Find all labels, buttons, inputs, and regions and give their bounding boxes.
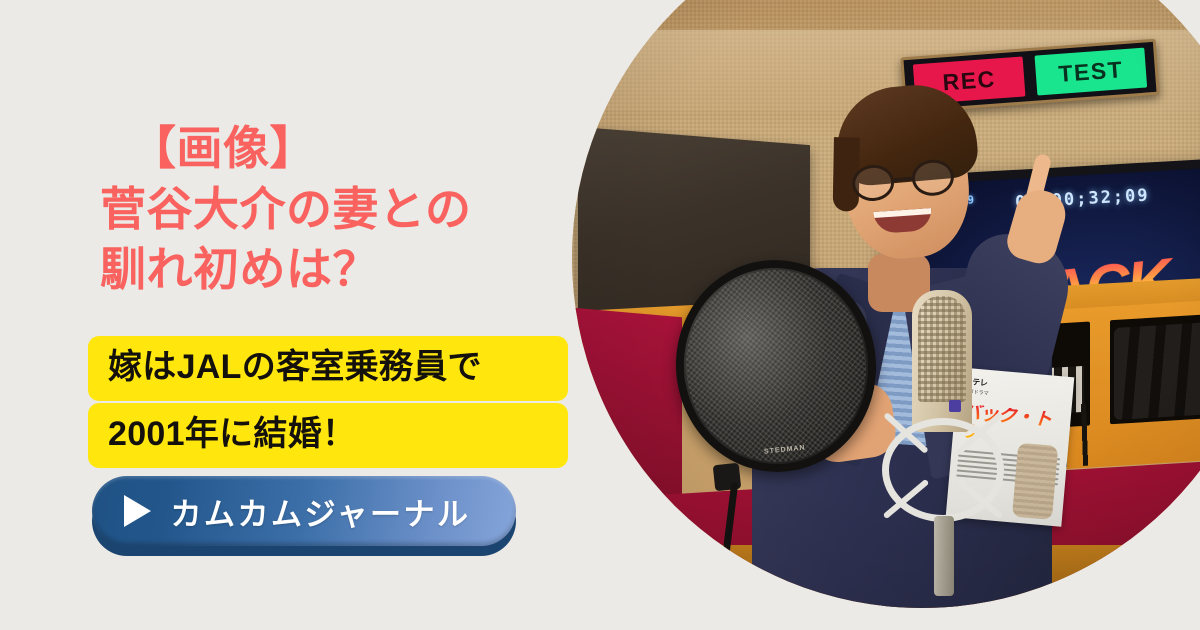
subheading: 嫁はJALの客室乗務員で 2001年に結婚！ — [88, 336, 568, 468]
pop-filter-mesh — [676, 261, 875, 471]
text-panel: 【画像】 菅谷大介の妻との 馴れ初めは？ 嫁はJALの客室乗務員で 2001年に… — [0, 0, 580, 630]
camcam-journal-button[interactable]: カムカムジャーナル — [92, 476, 516, 546]
headline-line-3: 馴れ初めは？ — [100, 239, 570, 300]
microphone-stem — [934, 516, 954, 596]
subheading-text-2: 2001年に結婚！ — [98, 411, 366, 459]
microphone-assembly — [856, 290, 1036, 590]
microphone-grille — [918, 296, 966, 402]
glasses-lens-left — [851, 163, 896, 203]
headphones-stack — [1114, 318, 1200, 420]
headline-line-1: 【画像】 — [100, 118, 570, 179]
page-title: 【画像】 菅谷大介の妻との 馴れ初めは？ — [100, 118, 570, 300]
portrait-photo: REC TEST 01;00;32;09 01;00;32;09 BACK TO… — [572, 0, 1200, 608]
subheading-line-2: 2001年に結婚！ — [88, 403, 568, 468]
headline-line-2: 菅谷大介の妻との — [100, 179, 570, 240]
glasses-lens-right — [910, 158, 955, 198]
microphone-badge — [949, 400, 961, 412]
cta-button-label: カムカムジャーナル — [171, 489, 471, 534]
studio-scene: REC TEST 01;00;32;09 01;00;32;09 BACK TO… — [572, 0, 1200, 608]
cta-button-wrapper: カムカムジャーナル — [92, 476, 516, 556]
subheading-line-1: 嫁はJALの客室乗務員で — [88, 336, 568, 401]
glasses-bridge — [894, 177, 912, 182]
play-icon — [124, 495, 151, 527]
subheading-text-1: 嫁はJALの客室乗務員で — [98, 344, 492, 392]
hand-pointing — [1003, 185, 1071, 268]
crimson-panel-left — [572, 307, 682, 507]
